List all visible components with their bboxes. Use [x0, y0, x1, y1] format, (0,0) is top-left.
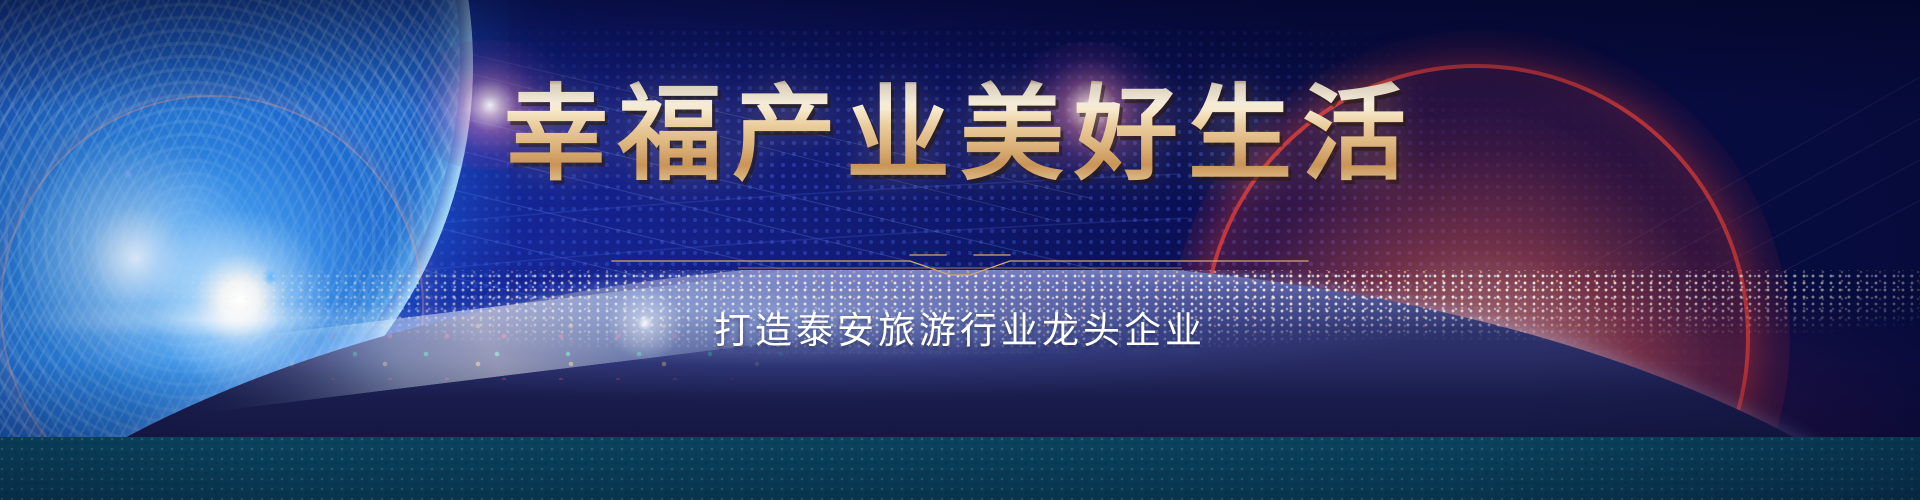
hero-banner: 幸福产业美好生活 打造泰安旅游行业龙头企业 [0, 0, 1920, 500]
vignette-overlay [0, 0, 1920, 500]
